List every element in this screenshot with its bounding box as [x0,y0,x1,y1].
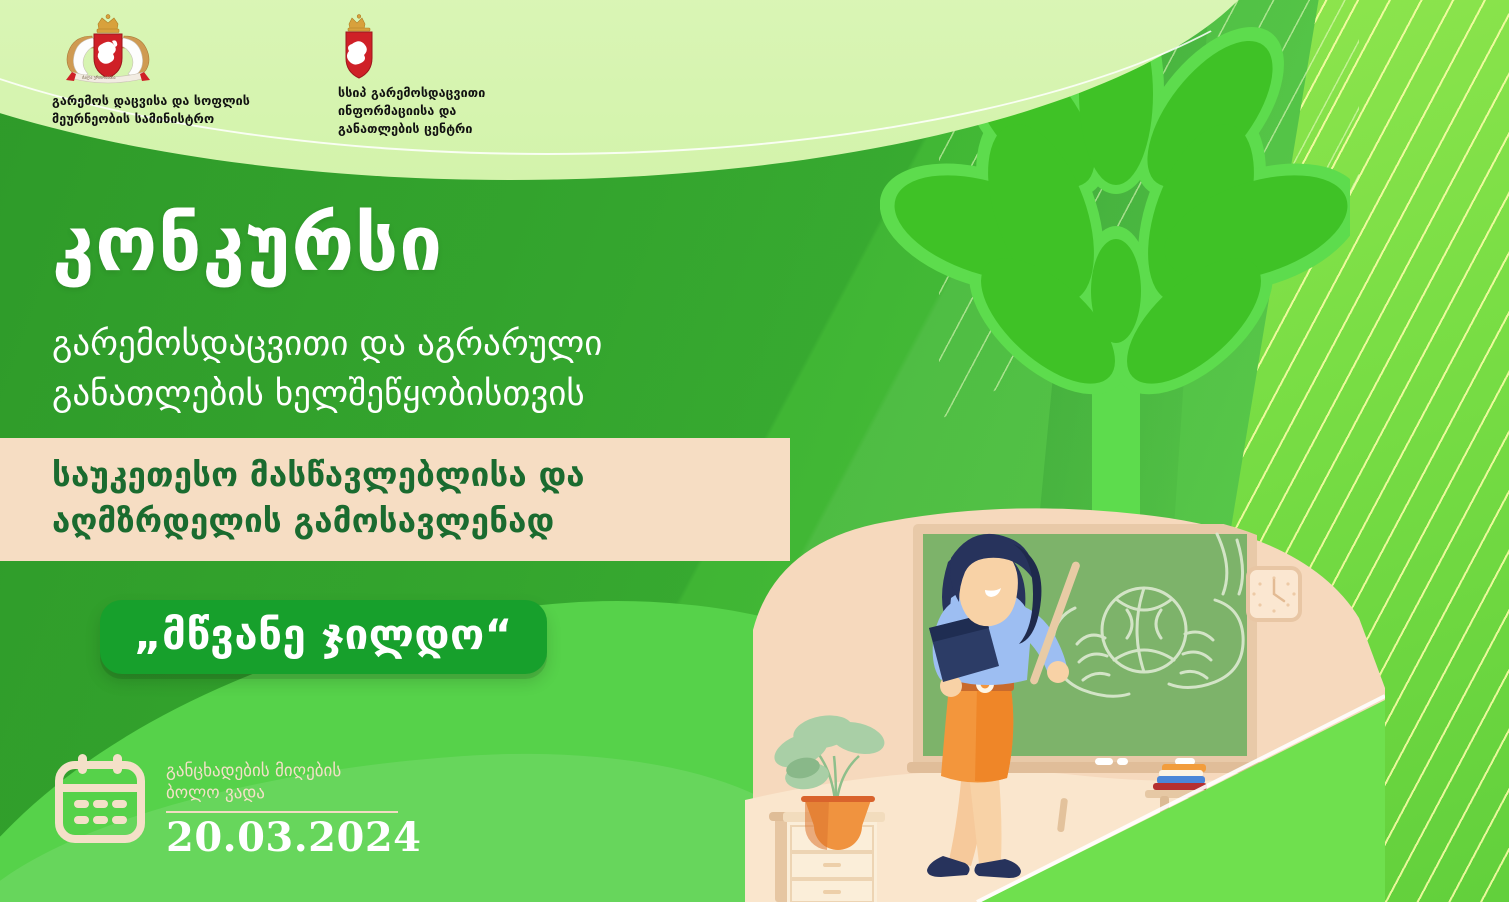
deadline-date: 20.03.2024 [166,817,422,859]
svg-text:ძალა ერთობაშია: ძალა ერთობაშია [82,75,116,80]
award-badge-label: „მწვანე ჯილდო“ [134,614,513,656]
page-subtitle: გარემოსდაცვითი და აგრარული განათლების ხე… [52,320,772,419]
georgia-coat-of-arms-icon: ძალა ერთობაშია [52,14,302,86]
ministry-logo-caption: გარემოს დაცვისა და სოფლის მეურნეობის სამ… [52,92,302,128]
page-title: კონკურსი [52,206,443,282]
center-logo-caption: სსიპ გარემოსდაცვითი ინფორმაციისა და განა… [338,84,578,138]
classroom-illustration [745,500,1385,902]
poster-root: ძალა ერთობაშია გარემოს დაცვისა და სოფლის… [0,0,1509,902]
highlight-banner: საუკეთესო მასწავლებლისა და აღმზრდელის გა… [0,438,790,561]
award-badge: „მწვანე ჯილდო“ [100,600,547,674]
center-logo-block: სსიპ გარემოსდაცვითი ინფორმაციისა და განა… [338,14,578,138]
deadline-block: განცხადების მიღების ბოლო ვადა 20.03.2024 [54,752,422,859]
wall-clock [1248,568,1300,620]
logo-row: ძალა ერთობაშია გარემოს დაცვისა და სოფლის… [0,0,700,150]
ministry-logo-block: ძალა ერთობაშია გარემოს დაცვისა და სოფლის… [52,14,302,128]
deadline-label: განცხადების მიღების ბოლო ვადა [166,760,422,804]
calendar-icon [54,752,146,844]
georgia-shield-icon [338,14,578,80]
deadline-divider [166,811,398,813]
deadline-text: განცხადების მიღების ბოლო ვადა 20.03.2024 [166,752,422,859]
highlight-banner-text: საუკეთესო მასწავლებლისა და აღმზრდელის გა… [52,452,790,543]
